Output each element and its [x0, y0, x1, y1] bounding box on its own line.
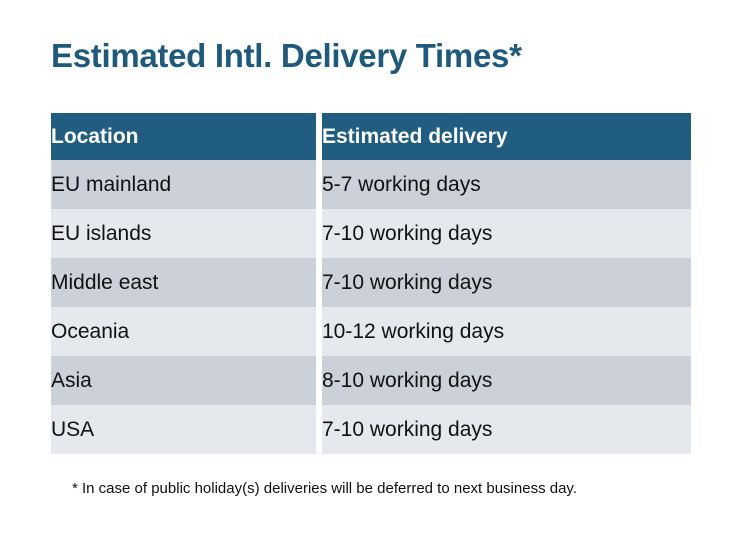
table-row: Oceania 10-12 working days: [51, 307, 691, 356]
column-header-location: Location: [51, 113, 316, 160]
column-header-delivery: Estimated delivery: [322, 113, 691, 160]
table-header-row: Location Estimated delivery: [51, 113, 691, 160]
cell-delivery: 7-10 working days: [322, 258, 691, 307]
cell-location: Asia: [51, 356, 316, 405]
table-header: Location Estimated delivery: [51, 113, 691, 160]
delivery-times-table: Location Estimated delivery EU mainland …: [51, 113, 691, 454]
table-row: Asia 8-10 working days: [51, 356, 691, 405]
table-body: EU mainland 5-7 working days EU islands …: [51, 160, 691, 454]
delivery-times-page: Estimated Intl. Delivery Times* Location…: [0, 0, 745, 536]
footnote-text: * In case of public holiday(s) deliverie…: [72, 479, 577, 499]
page-title: Estimated Intl. Delivery Times*: [51, 36, 522, 76]
table-row: EU islands 7-10 working days: [51, 209, 691, 258]
cell-location: Oceania: [51, 307, 316, 356]
cell-location: EU islands: [51, 209, 316, 258]
cell-delivery: 10-12 working days: [322, 307, 691, 356]
table-row: EU mainland 5-7 working days: [51, 160, 691, 209]
table-row: USA 7-10 working days: [51, 405, 691, 454]
cell-delivery: 5-7 working days: [322, 160, 691, 209]
table-row: Middle east 7-10 working days: [51, 258, 691, 307]
cell-delivery: 8-10 working days: [322, 356, 691, 405]
cell-location: Middle east: [51, 258, 316, 307]
cell-delivery: 7-10 working days: [322, 405, 691, 454]
cell-location: EU mainland: [51, 160, 316, 209]
cell-delivery: 7-10 working days: [322, 209, 691, 258]
cell-location: USA: [51, 405, 316, 454]
